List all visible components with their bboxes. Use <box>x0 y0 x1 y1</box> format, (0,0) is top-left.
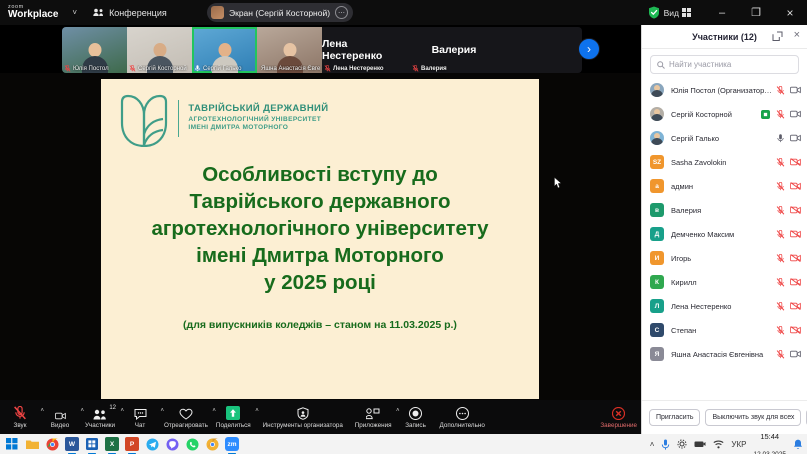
mic-muted-icon <box>776 302 785 311</box>
taskbar-microsoft-word[interactable]: W <box>65 437 79 451</box>
participant-name: админ <box>671 182 773 191</box>
avatar: К <box>650 275 664 289</box>
participant-name: Кирилл <box>671 278 773 287</box>
toolbar-button-label: Дополнительно <box>440 422 485 429</box>
mic-muted-icon <box>776 278 785 287</box>
taskbar-viber[interactable] <box>165 437 179 451</box>
participant-row[interactable]: аадмин <box>642 174 807 198</box>
toolbar-button-label: Завершение <box>600 422 637 429</box>
mic-muted-icon <box>776 254 785 263</box>
toolbar-button-more[interactable]: Дополнительно <box>436 400 489 434</box>
toolbar-button-label: Участники <box>85 422 115 429</box>
mic-muted-icon <box>13 406 27 420</box>
search-participant-input[interactable]: Найти участника <box>650 55 799 74</box>
toolbar-button-record[interactable]: Запись <box>396 400 436 434</box>
participants-icon <box>93 406 107 420</box>
toolbar-button-mic-muted[interactable]: Звук˄ <box>0 400 40 434</box>
notifications-bell-icon[interactable] <box>793 439 803 450</box>
participants-count-badge: 12 <box>109 405 116 411</box>
search-placeholder: Найти участника <box>669 60 731 69</box>
minimize-button[interactable]: – <box>705 0 739 25</box>
meeting-toolbar: Звук˄Видео˄Участники˄12Чат˄Отреагировать… <box>0 400 641 434</box>
head-shape <box>283 43 296 57</box>
mic-muted-icon <box>776 230 785 239</box>
next-page-button[interactable]: › <box>578 38 600 60</box>
conference-tab[interactable]: Конференция <box>93 8 167 18</box>
participant-name: Валерия <box>671 206 773 215</box>
network-adapter-icon[interactable] <box>694 439 706 449</box>
avatar <box>650 83 664 97</box>
head-shape <box>153 43 166 57</box>
video-tile[interactable]: Юлія Постол <box>62 27 127 73</box>
mic-icon <box>194 65 201 72</box>
participant-name: Сергій Галько <box>671 134 773 143</box>
mute-all-button[interactable]: Выключить звук для всех <box>705 409 801 426</box>
participant-status-icons[interactable] <box>776 134 801 143</box>
participant-row[interactable]: Юлія Постол (Организатор, я) <box>642 78 807 102</box>
more-icon <box>456 406 469 420</box>
participant-status-icons[interactable] <box>776 182 801 191</box>
camera-icon <box>55 406 66 420</box>
video-tile[interactable]: Яшна Анастасія Євген... <box>257 27 322 73</box>
app-glyph: X <box>110 441 114 448</box>
toolbar-button-heart[interactable]: Отреагировать˄ <box>160 400 212 434</box>
avatar-body <box>651 114 663 121</box>
taskbar-google-chrome[interactable] <box>45 437 59 451</box>
avatar-body <box>651 90 663 97</box>
taskbar-app-icons: WXPzm <box>5 437 239 451</box>
camera-icon <box>790 86 801 94</box>
university-line-2: АГРОТЕХНОЛОГІЧНИЙ УНІВЕРСИТЕТ <box>188 116 328 124</box>
participant-status-icons[interactable] <box>776 86 801 95</box>
participant-name: Яшна Анастасія Євгенівна <box>671 350 773 359</box>
toolbar-button-shield-tools[interactable]: Инструменты организатора <box>255 400 351 434</box>
mic-muted-icon <box>776 206 785 215</box>
avatar-body <box>651 138 663 145</box>
slide-title-line-4: імені Дмитра Моторного <box>113 242 527 269</box>
avatar <box>650 107 664 121</box>
more-icon <box>456 407 469 420</box>
head-shape <box>88 43 101 57</box>
toolbar-button-label: Звук <box>14 422 27 429</box>
tile-name-text: Яшна Анастасія Євген... <box>261 66 320 72</box>
toolbar-button-label: Видео <box>51 422 69 429</box>
toolbar-button-end-call[interactable]: Завершение <box>596 400 641 434</box>
toolbar-button-label: Запись <box>405 422 426 429</box>
mic-muted-icon <box>129 65 136 72</box>
toolbar-button-label: Инструменты организатора <box>263 422 343 429</box>
camera-off-icon <box>790 326 801 334</box>
participant-row[interactable]: вВалерия <box>642 198 807 222</box>
taskbar-chrome-canary[interactable] <box>205 437 219 451</box>
avatar: Д <box>650 227 664 241</box>
participants-list[interactable]: Юлія Постол (Организатор, я)Сергій Косто… <box>642 76 807 375</box>
apps-icon <box>366 408 380 420</box>
participant-status-icons[interactable] <box>776 254 801 263</box>
tile-name-text: Валерия <box>421 66 447 72</box>
camera-off-icon <box>790 206 801 214</box>
tile-name-label: Сергій Галько <box>194 65 255 72</box>
participant-row[interactable]: ККирилл <box>642 270 807 294</box>
participant-status-icons[interactable] <box>776 278 801 287</box>
close-button[interactable]: × <box>773 0 807 25</box>
participant-name: Демченко Максим <box>671 230 773 239</box>
avatar: Я <box>650 347 664 361</box>
mic-muted-icon <box>776 158 785 167</box>
grid-view-icon <box>682 8 691 17</box>
chat-icon <box>134 406 147 420</box>
avatar: SZ <box>650 155 664 169</box>
camera-off-icon <box>790 158 801 166</box>
tile-name-label: Юлія Постол <box>64 65 125 72</box>
tile-name-text: Юлія Постол <box>73 66 109 72</box>
participant-display-name: Валерия <box>432 44 477 56</box>
heart-icon <box>179 406 193 420</box>
participant-name: Sasha Zavolokin <box>671 158 773 167</box>
host-badge <box>761 110 770 119</box>
toolbar-button-label: Приложения <box>355 422 392 429</box>
title-bar: zoom Workplace ˅ Конференция Экран (Серг… <box>0 0 807 25</box>
clock[interactable]: 15:44 12.03.2025 <box>753 427 786 454</box>
settings-icon[interactable] <box>677 439 687 449</box>
avatar: Л <box>650 299 664 313</box>
participant-status-icons[interactable] <box>776 326 801 335</box>
video-thumbnail-strip: Юлія ПостолСергій КосторнойСергій Галько… <box>62 27 582 73</box>
popout-icon[interactable] <box>772 31 783 42</box>
participant-row[interactable]: ДДемченко Максим <box>642 222 807 246</box>
slide-title-line-3: агротехнологічного університету <box>113 215 527 242</box>
end-call-icon <box>612 407 625 420</box>
mic-muted-icon <box>776 326 785 335</box>
language-indicator[interactable]: УКР <box>731 440 746 449</box>
zoom-workplace-logo: zoom Workplace <box>8 5 58 20</box>
tile-name-label: Валерия <box>412 65 496 72</box>
participants-icon <box>93 409 107 420</box>
toolbar-button-label: Поделиться <box>216 422 251 429</box>
tile-name-label: Яшна Анастасія Євген... <box>259 65 320 72</box>
tile-name-text: Сергій Галько <box>203 66 241 72</box>
tray-expand-icon[interactable]: ˄ <box>650 440 655 449</box>
system-tray: ˄ УКР 15:44 12.03.2025 <box>650 427 803 454</box>
avatar: С <box>650 323 664 337</box>
slide-title-line-2: Таврійського державного <box>113 188 527 215</box>
taskbar-zoom[interactable]: zm <box>225 437 239 451</box>
taskbar-microsoft-store[interactable] <box>85 437 99 451</box>
camera-off-icon <box>790 278 801 286</box>
participant-row[interactable]: Сергій Галько <box>642 126 807 150</box>
invite-button[interactable]: Пригласить <box>649 409 700 426</box>
participant-display-name: Лена Нестеренко <box>322 38 410 62</box>
wifi-icon[interactable] <box>713 440 724 449</box>
mouse-cursor <box>554 177 562 189</box>
share-screen-icon <box>226 406 240 420</box>
slide-subtitle: (для випускників коледжів – станом на 11… <box>113 319 527 331</box>
taskbar-file-explorer[interactable] <box>25 437 39 451</box>
share-more-icon[interactable]: ⋯ <box>335 6 348 19</box>
university-line-1: ТАВРІЙСЬКИЙ ДЕРЖАВНИЙ <box>188 103 328 115</box>
taskbar-microsoft-excel[interactable]: X <box>105 437 119 451</box>
record-icon <box>409 407 422 420</box>
shield-tools-icon <box>297 407 309 420</box>
shield-tools-icon <box>297 406 309 420</box>
head-shape <box>218 43 231 57</box>
participants-panel-header: Участники (12) × <box>642 25 807 49</box>
mic-icon <box>776 134 785 143</box>
video-tile[interactable]: Лена НестеренкоЛена Нестеренко <box>322 27 410 73</box>
camera-icon <box>790 350 801 358</box>
toolbar-button-share-screen[interactable]: Поделиться˄ <box>212 400 255 434</box>
tile-name-text: Лена Нестеренко <box>333 66 384 72</box>
mic-muted-icon <box>776 86 785 95</box>
avatar: И <box>650 251 664 265</box>
participant-name: Лена Нестеренко <box>671 302 773 311</box>
avatar: в <box>650 203 664 217</box>
participant-status-icons[interactable] <box>776 302 801 311</box>
app-glyph: P <box>130 441 134 448</box>
participant-status-icons[interactable] <box>776 110 801 119</box>
chevron-down-icon[interactable]: ˅ <box>72 8 77 17</box>
conference-label: Конференция <box>109 8 167 18</box>
brand-big: Workplace <box>8 10 58 20</box>
mic-muted-icon <box>64 65 71 72</box>
participant-status-icons[interactable] <box>776 230 801 239</box>
participants-panel: Участники (12) × Найти участника Юлія По… <box>641 25 807 434</box>
camera-off-icon <box>790 302 801 310</box>
participant-row[interactable]: SZSasha Zavolokin <box>642 150 807 174</box>
toolbar-button-label: Отреагировать <box>164 422 208 429</box>
participant-status-icons[interactable] <box>776 206 801 215</box>
video-tile[interactable]: Сергій Косторной <box>127 27 192 73</box>
camera-icon <box>55 412 66 420</box>
clock-time: 15:44 <box>760 432 779 441</box>
share-screen-icon <box>226 406 240 420</box>
slide-title-line-5: у 2025 році <box>113 269 527 296</box>
share-label: Экран (Сергій Косторной) <box>229 8 330 18</box>
chat-icon <box>134 408 147 420</box>
mic-muted-icon <box>13 406 27 420</box>
university-line-3: ІМЕНІ ДМИТРА МОТОРНОГО <box>188 124 328 132</box>
participant-name: Сергій Косторной <box>671 110 761 119</box>
participant-name: Юлія Постол (Организатор, я) <box>671 86 773 95</box>
taskbar-microsoft-powerpoint[interactable]: P <box>125 437 139 451</box>
participant-row[interactable]: ИИгорь <box>642 246 807 270</box>
taskbar-whatsapp[interactable] <box>185 437 199 451</box>
toolbar-button-chat[interactable]: Чат˄ <box>120 400 160 434</box>
zoom-meeting-window: zoom Workplace ˅ Конференция Экран (Серг… <box>0 0 807 454</box>
avatar: а <box>650 179 664 193</box>
participant-row[interactable]: ЯЯшна Анастасія Євгенівна <box>642 342 807 366</box>
presentation-slide: ТАВРІЙСЬКИЙ ДЕРЖАВНИЙ АГРОТЕХНОЛОГІЧНИЙ … <box>101 79 539 399</box>
participant-name: Игорь <box>671 254 773 263</box>
heart-icon <box>179 408 193 420</box>
windows-taskbar: WXPzm ˄ УКР 15:44 <box>0 434 807 454</box>
record-icon <box>409 406 422 420</box>
slide-title: Особливості вступу до Таврійського держа… <box>113 161 527 296</box>
toolbar-button-participants[interactable]: Участники˄12 <box>80 400 120 434</box>
maximize-button[interactable]: ❐ <box>739 0 773 25</box>
university-logo: ТАВРІЙСЬКИЙ ДЕРЖАВНИЙ АГРОТЕХНОЛОГІЧНИЙ … <box>119 89 328 147</box>
logo-divider <box>178 100 179 137</box>
mic-muted-icon <box>324 65 331 72</box>
view-label: Вид <box>664 8 679 18</box>
microphone-icon[interactable] <box>661 439 670 450</box>
camera-off-icon <box>790 230 801 238</box>
video-tile[interactable]: Сергій Галько <box>192 27 257 73</box>
zoom-glyph: zm <box>227 441 236 448</box>
toolbar-button-apps[interactable]: Приложения˄ <box>351 400 396 434</box>
screen-share-indicator[interactable]: Экран (Сергій Косторной) ⋯ <box>207 3 353 22</box>
view-switch-button[interactable]: Вид <box>664 8 691 18</box>
app-glyph: W <box>69 441 75 448</box>
close-panel-icon[interactable]: × <box>794 29 800 41</box>
video-tile[interactable]: ВалерияВалерия <box>410 27 498 73</box>
end-call-icon <box>612 406 625 420</box>
avatar <box>650 131 664 145</box>
taskbar-start-button[interactable] <box>5 437 19 451</box>
participant-row[interactable]: ЛЛена Нестеренко <box>642 294 807 318</box>
participant-row[interactable]: ССтепан <box>642 318 807 342</box>
mic-muted-icon <box>412 65 419 72</box>
taskbar-telegram[interactable] <box>145 437 159 451</box>
window-controls: Вид – ❐ × <box>648 0 807 25</box>
apps-icon <box>366 406 380 420</box>
mic-muted-icon <box>776 110 785 119</box>
leaf-logo-icon <box>119 89 169 147</box>
camera-off-icon <box>790 182 801 190</box>
camera-icon <box>790 110 801 118</box>
shield-icon[interactable] <box>648 6 660 19</box>
shared-screen-stage: ТАВРІЙСЬКИЙ ДЕРЖАВНИЙ АГРОТЕХНОЛОГІЧНИЙ … <box>0 73 641 400</box>
participants-icon <box>93 8 104 17</box>
mic-muted-icon <box>776 182 785 191</box>
tile-name-text: Сергій Косторной <box>138 66 187 72</box>
tile-name-label: Лена Нестеренко <box>324 65 408 72</box>
toolbar-button-label: Чат <box>135 422 145 429</box>
tile-name-label: Сергій Косторной <box>129 65 190 72</box>
slide-title-line-1: Особливості вступу до <box>113 161 527 188</box>
participant-row[interactable]: Сергій Косторной <box>642 102 807 126</box>
participant-status-icons[interactable] <box>776 158 801 167</box>
university-name: ТАВРІЙСЬКИЙ ДЕРЖАВНИЙ АГРОТЕХНОЛОГІЧНИЙ … <box>188 103 328 132</box>
camera-icon <box>790 134 801 142</box>
camera-off-icon <box>790 254 801 262</box>
search-icon <box>657 61 665 69</box>
participant-name: Степан <box>671 326 773 335</box>
share-thumbnail <box>211 6 224 19</box>
mic-muted-icon <box>776 350 785 359</box>
toolbar-button-camera[interactable]: Видео˄ <box>40 400 80 434</box>
participants-title: Участники (12) <box>692 32 757 42</box>
participant-status-icons[interactable] <box>776 350 801 359</box>
